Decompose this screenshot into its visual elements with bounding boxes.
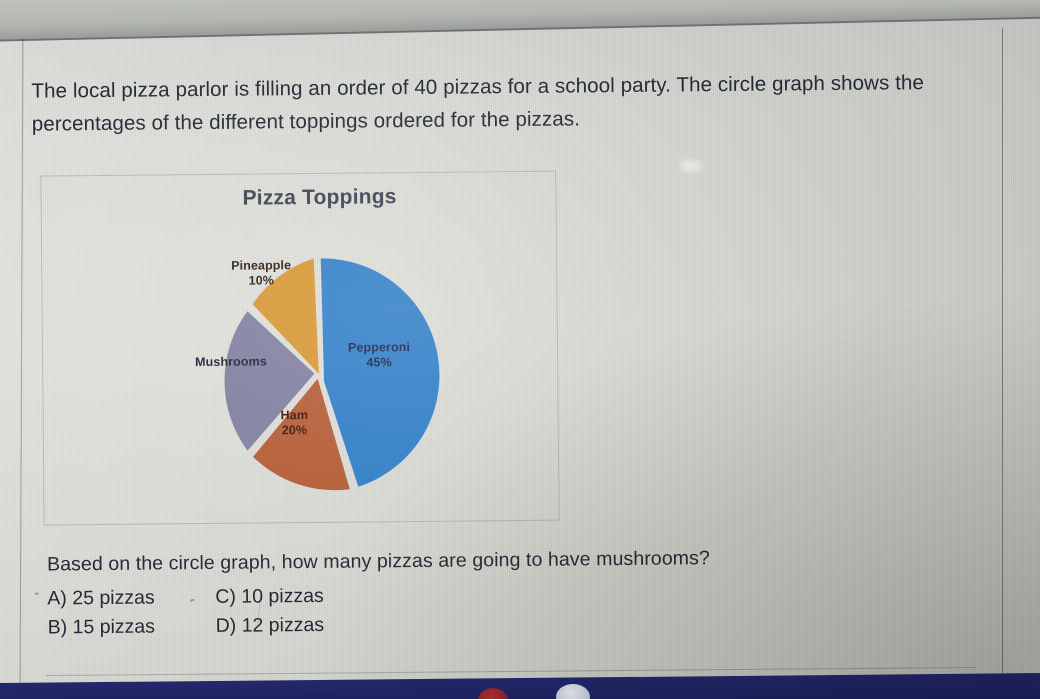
question-text: Based on the circle graph, how many pizz… bbox=[47, 547, 710, 576]
pie-label-pineapple: Pineapple 10% bbox=[231, 258, 291, 288]
pie-label-pepperoni-pct: 45% bbox=[348, 355, 410, 370]
choice-c[interactable]: C) 10 pizzas bbox=[215, 584, 395, 609]
chart-title: Pizza Toppings bbox=[242, 185, 396, 210]
choice-row: B) 15 pizzas D) 12 pizzas bbox=[48, 613, 396, 639]
choice-d[interactable]: D) 12 pizzas bbox=[216, 613, 396, 638]
photo-of-screen: The local pizza parlor is filling an ord… bbox=[0, 0, 1040, 699]
pie-label-ham: Ham 20% bbox=[281, 408, 309, 437]
problem-stem: The local pizza parlor is filling an ord… bbox=[31, 66, 952, 141]
pie-label-ham-name: Ham bbox=[281, 408, 309, 422]
pie-label-mushrooms-name: Mushrooms bbox=[195, 354, 267, 369]
answer-choices: A) 25 pizzas C) 10 pizzas B) 15 pizzas D… bbox=[47, 584, 396, 645]
pie-label-pepperoni: Pepperoni 45% bbox=[348, 340, 410, 370]
choice-row: A) 25 pizzas C) 10 pizzas bbox=[47, 584, 395, 610]
choice-a[interactable]: A) 25 pizzas bbox=[47, 586, 215, 611]
pie-chart-svg bbox=[195, 251, 443, 499]
pie-label-pineapple-name: Pineapple bbox=[231, 258, 291, 273]
pie-chart bbox=[195, 251, 443, 499]
pie-label-pineapple-pct: 10% bbox=[231, 273, 291, 288]
worksheet-content: The local pizza parlor is filling an ord… bbox=[0, 0, 1040, 699]
choice-b[interactable]: B) 15 pizzas bbox=[48, 615, 216, 640]
pie-label-mushrooms: Mushrooms bbox=[195, 354, 267, 369]
pencil-mark bbox=[35, 593, 38, 595]
pie-label-ham-pct: 20% bbox=[281, 423, 309, 438]
pie-label-pepperoni-name: Pepperoni bbox=[348, 340, 410, 355]
screen-glare bbox=[680, 160, 702, 172]
